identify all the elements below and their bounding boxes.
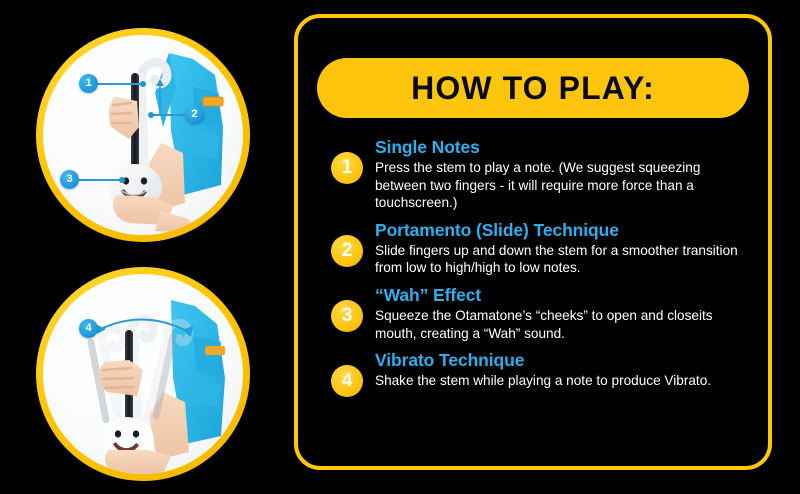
- step-body-3: Squeeze the Otamatone’s “cheeks” to open…: [375, 307, 753, 342]
- step-number-badge-4: 4: [331, 365, 363, 397]
- otamatone-vibrato-illustration: [43, 274, 243, 474]
- step-body-1: Press the stem to play a note. (We sugge…: [375, 159, 753, 212]
- how-to-play-panel: HOW TO PLAY: 1 Single Notes Press the st…: [294, 14, 772, 470]
- step-item-2: 2 Portamento (Slide) Technique Slide fin…: [327, 219, 756, 277]
- photo-circle-top: 1 2 3: [36, 28, 250, 242]
- page-title: HOW TO PLAY:: [411, 70, 655, 107]
- step-heading-3: “Wah” Effect: [375, 284, 756, 306]
- step-body-2: Slide fingers up and down the stem for a…: [375, 242, 753, 277]
- step-number-badge-1: 1: [331, 152, 363, 184]
- photo-callout-badge-3: 3: [60, 170, 79, 189]
- photo-bottom-image: [43, 274, 243, 474]
- callout-leader-1: [97, 83, 143, 85]
- photo-callout-badge-4: 4: [79, 319, 98, 338]
- photo-callout-badge-2: 2: [185, 105, 204, 124]
- step-heading-1: Single Notes: [375, 136, 756, 158]
- photo-column: 1 2 3: [0, 0, 290, 494]
- photo-top-image: [43, 35, 243, 235]
- steps-list: 1 Single Notes Press the stem to play a …: [327, 136, 756, 400]
- photo-callout-badge-1: 1: [79, 74, 98, 93]
- step-item-4: 4 Vibrato Technique Shake the stem while…: [327, 349, 756, 393]
- step-heading-4: Vibrato Technique: [375, 349, 756, 371]
- otamatone-press-illustration: [43, 35, 243, 235]
- callout-leader-2: [151, 114, 185, 116]
- step-number-badge-2: 2: [331, 235, 363, 267]
- panel-title-pill: HOW TO PLAY:: [317, 58, 749, 118]
- infographic-root: 1 2 3: [0, 0, 800, 494]
- step-number-badge-3: 3: [331, 300, 363, 332]
- step-item-1: 1 Single Notes Press the stem to play a …: [327, 136, 756, 212]
- photo-circle-bottom: 4: [36, 267, 250, 481]
- callout-leader-3: [78, 179, 122, 181]
- step-item-3: 3 “Wah” Effect Squeeze the Otamatone’s “…: [327, 284, 756, 342]
- step-heading-2: Portamento (Slide) Technique: [375, 219, 756, 241]
- step-body-4: Shake the stem while playing a note to p…: [375, 372, 753, 390]
